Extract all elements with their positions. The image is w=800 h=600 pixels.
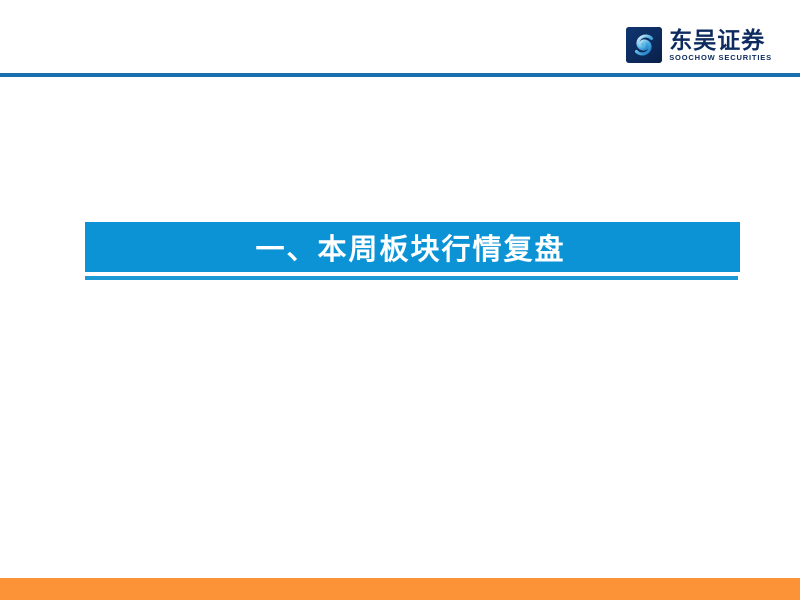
logo-text-block: 东吴证券 SOOCHOW SECURITIES xyxy=(669,28,772,62)
slide-content-area xyxy=(0,290,800,578)
slide-header: 东吴证券 SOOCHOW SECURITIES xyxy=(0,0,800,73)
section-title-text: 一、本周板块行情复盘 xyxy=(255,226,569,268)
footer-accent-bar xyxy=(0,578,800,600)
soochow-securities-logo-mark xyxy=(626,27,662,63)
section-title-banner: 一、本周板块行情复盘 xyxy=(85,222,740,272)
company-name-cn: 东吴证券 xyxy=(669,28,772,52)
company-logo: 东吴证券 SOOCHOW SECURITIES xyxy=(626,27,772,63)
company-name-en: SOOCHOW SECURITIES xyxy=(669,54,772,62)
slide-root: 东吴证券 SOOCHOW SECURITIES 一、本周板块行情复盘 xyxy=(0,0,800,600)
section-title-underline xyxy=(85,276,738,280)
header-divider-rule xyxy=(0,73,800,77)
